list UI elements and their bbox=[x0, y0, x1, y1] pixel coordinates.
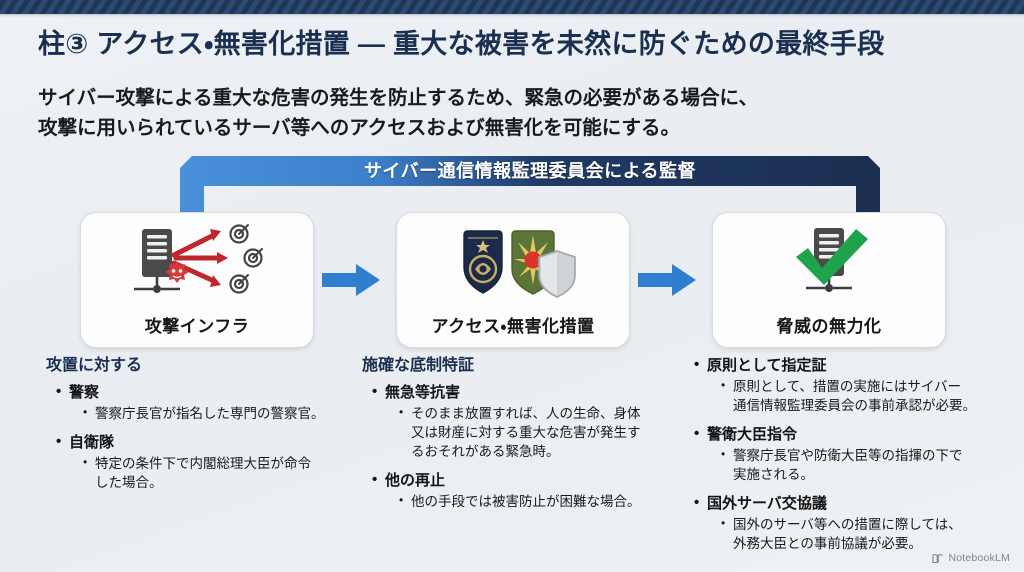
list-item-title: 自衛隊 bbox=[69, 434, 114, 451]
sub-list: 警察庁長官や防衛大臣等の指揮の下で 実施される。 bbox=[707, 447, 1004, 485]
detail-column-1-heading: 攻置に対する bbox=[46, 356, 346, 376]
oversight-banner-label: サイバー通信情報監理委員会による監督 bbox=[180, 156, 880, 186]
detail-columns: 攻置に対する 警察 警察庁長官が指名した専門の警察官。 自衛隊 特定の条件下で内… bbox=[0, 356, 1024, 572]
watermark: NotebookLM bbox=[932, 552, 1010, 564]
sub-list-item: 警察庁長官や防衛大臣等の指揮の下で 実施される。 bbox=[721, 447, 1004, 485]
list-item: 警察 警察庁長官が指名した専門の警察官。 bbox=[56, 383, 346, 424]
lead-line-2: 攻撃に用いられているサーバ等へのアクセスおよび無害化を可能にする。 bbox=[38, 113, 998, 143]
watermark-label: NotebookLM bbox=[948, 552, 1010, 564]
detail-column-1: 攻置に対する 警察 警察庁長官が指名した専門の警察官。 自衛隊 特定の条件下で内… bbox=[46, 356, 346, 502]
detail-column-1-list: 警察 警察庁長官が指名した専門の警察官。 自衛隊 特定の条件下で内閣総理大臣が命… bbox=[46, 383, 346, 493]
list-item-title: 原則として指定証 bbox=[707, 357, 827, 374]
server-check-icon bbox=[713, 221, 945, 303]
sub-line: 通信情報監理委員会の事前承認が必要。 bbox=[733, 397, 1004, 416]
sub-list-item: 特定の条件下で内閣総理大臣が命令 した場合。 bbox=[83, 455, 346, 493]
list-item-title: 警衛大臣指令 bbox=[707, 426, 797, 443]
lead-line-1: サイバー攻撃による重大な危害の発生を防止するため、緊急の必要がある場合に、 bbox=[38, 83, 998, 113]
flow-card-access-measures[interactable]: アクセス・無害化措置 bbox=[396, 212, 630, 348]
detail-column-2: 施確な底制特証 無急等抗害 そのまま放置すれば、人の生命、身体 又は財産に対する… bbox=[362, 356, 662, 521]
sub-list: 原則として、措置の実施にはサイバー 通信情報監理委員会の事前承認が必要。 bbox=[707, 378, 1004, 416]
sub-list-item: そのまま放置すれば、人の生命、身体 又は財産に対する重大な危害が発生す るおそれ… bbox=[399, 405, 662, 462]
list-item-title: 警察 bbox=[69, 384, 99, 401]
flow-card-threat-neutralized[interactable]: 脅威の無力化 bbox=[712, 212, 946, 348]
sub-list-item: 国外のサーバ等への措置に際しては、 外務大臣との事前協議が必要。 bbox=[721, 516, 1004, 554]
sub-line: 特定の条件下で内閣総理大臣が命令 bbox=[95, 455, 346, 474]
police-defense-emblems-icon bbox=[397, 221, 629, 303]
sub-list-item: 他の手段では被害防止が困難な場合。 bbox=[399, 493, 662, 512]
list-item: 原則として指定証 原則として、措置の実施にはサイバー 通信情報監理委員会の事前承… bbox=[694, 356, 1004, 416]
sub-line: 警察庁長官が指名した専門の警察官。 bbox=[95, 405, 346, 424]
sub-line: した場合。 bbox=[95, 474, 346, 493]
sub-list-item: 警察庁長官が指名した専門の警察官。 bbox=[83, 405, 346, 424]
detail-column-3-list: 原則として指定証 原則として、措置の実施にはサイバー 通信情報監理委員会の事前承… bbox=[684, 356, 1004, 554]
list-item: 国外サーバ交協議 国外のサーバ等への措置に際しては、 外務大臣との事前協議が必要… bbox=[694, 494, 1004, 554]
sub-list: 他の手段では被害防止が困難な場合。 bbox=[385, 493, 662, 512]
sub-list: 警察庁長官が指名した専門の警察官。 bbox=[69, 405, 346, 424]
sub-line: 警察庁長官や防衛大臣等の指揮の下で bbox=[733, 447, 1004, 466]
flow-arrow-1-icon bbox=[322, 264, 382, 296]
flow-card-label-1: 攻撃インフラ bbox=[81, 312, 313, 337]
lead-paragraph: サイバー攻撃による重大な危害の発生を防止するため、緊急の必要がある場合に、 攻撃… bbox=[38, 83, 998, 143]
flow-arrow-2-icon bbox=[638, 264, 698, 296]
sub-list: 国外のサーバ等への措置に際しては、 外務大臣との事前協議が必要。 bbox=[707, 516, 1004, 554]
list-item-title: 国外サーバ交協議 bbox=[707, 495, 827, 512]
sub-list: 特定の条件下で内閣総理大臣が命令 した場合。 bbox=[69, 455, 346, 493]
detail-column-2-list: 無急等抗害 そのまま放置すれば、人の生命、身体 又は財産に対する重大な危害が発生… bbox=[362, 383, 662, 512]
notebooklm-icon bbox=[932, 553, 944, 564]
sub-line: そのまま放置すれば、人の生命、身体 bbox=[411, 405, 662, 424]
top-striped-banner bbox=[0, 0, 1024, 14]
flow-card-label-2: アクセス・無害化措置 bbox=[397, 312, 629, 337]
sub-line: 原則として、措置の実施にはサイバー bbox=[733, 378, 1004, 397]
sub-list: そのまま放置すれば、人の生命、身体 又は財産に対する重大な危害が発生す るおそれ… bbox=[385, 405, 662, 462]
detail-column-2-heading: 施確な底制特証 bbox=[362, 356, 662, 376]
list-item: 他の再止 他の手段では被害防止が困難な場合。 bbox=[372, 471, 662, 512]
list-item-title: 他の再止 bbox=[385, 472, 445, 489]
sub-line: 国外のサーバ等への措置に際しては、 bbox=[733, 516, 1004, 535]
list-item: 自衛隊 特定の条件下で内閣総理大臣が命令 した場合。 bbox=[56, 433, 346, 493]
page-title: 柱③ アクセス・無害化措置 ― 重大な被害を未然に防ぐための最終手段 bbox=[38, 28, 998, 60]
sub-line: 又は財産に対する重大な危害が発生す bbox=[411, 424, 662, 443]
list-item-title: 無急等抗害 bbox=[385, 384, 460, 401]
list-item: 警衛大臣指令 警察庁長官や防衛大臣等の指揮の下で 実施される。 bbox=[694, 425, 1004, 485]
detail-column-3: 原則として指定証 原則として、措置の実施にはサイバー 通信情報監理委員会の事前承… bbox=[684, 356, 1004, 563]
sub-line: るおそれがある緊急時。 bbox=[411, 443, 662, 462]
sub-line: 実施される。 bbox=[733, 466, 1004, 485]
sub-list-item: 原則として、措置の実施にはサイバー 通信情報監理委員会の事前承認が必要。 bbox=[721, 378, 1004, 416]
flow-card-label-3: 脅威の無力化 bbox=[713, 312, 945, 337]
slide-root: 柱③ アクセス・無害化措置 ― 重大な被害を未然に防ぐための最終手段 サイバー攻… bbox=[0, 0, 1024, 572]
top-banner-shadow bbox=[0, 14, 1024, 17]
server-attack-targets-icon bbox=[81, 221, 313, 303]
sub-line: 他の手段では被害防止が困難な場合。 bbox=[411, 493, 662, 512]
flow-diagram: 攻撃インフラ bbox=[0, 212, 1024, 350]
list-item: 無急等抗害 そのまま放置すれば、人の生命、身体 又は財産に対する重大な危害が発生… bbox=[372, 383, 662, 462]
flow-card-attack-infrastructure[interactable]: 攻撃インフラ bbox=[80, 212, 314, 348]
